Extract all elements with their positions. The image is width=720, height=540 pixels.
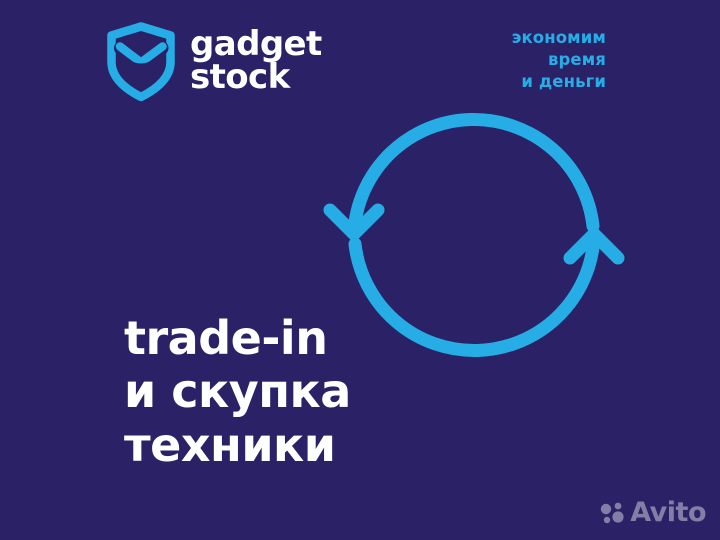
tagline-line-1: экономим [512,27,606,49]
headline-line-3: техники [124,419,351,472]
brand-logo[interactable]: gadget stock [104,18,322,104]
logo-wordmark: gadget stock [190,28,322,93]
page-title: trade-in и скупка техники [124,312,351,472]
avito-dots-icon [600,500,626,526]
shield-icon [104,18,178,104]
tagline-line-2: время [512,49,606,71]
logo-word-secondary: stock [190,61,322,94]
promo-banner: gadget stock экономим время и деньги tra… [0,0,720,540]
avito-watermark-label: Avito [630,497,706,528]
headline-line-1: trade-in [124,312,351,365]
circular-exchange-arrows-icon [318,82,630,382]
avito-watermark: Avito [600,497,706,528]
headline-line-2: и скупка [124,365,351,418]
